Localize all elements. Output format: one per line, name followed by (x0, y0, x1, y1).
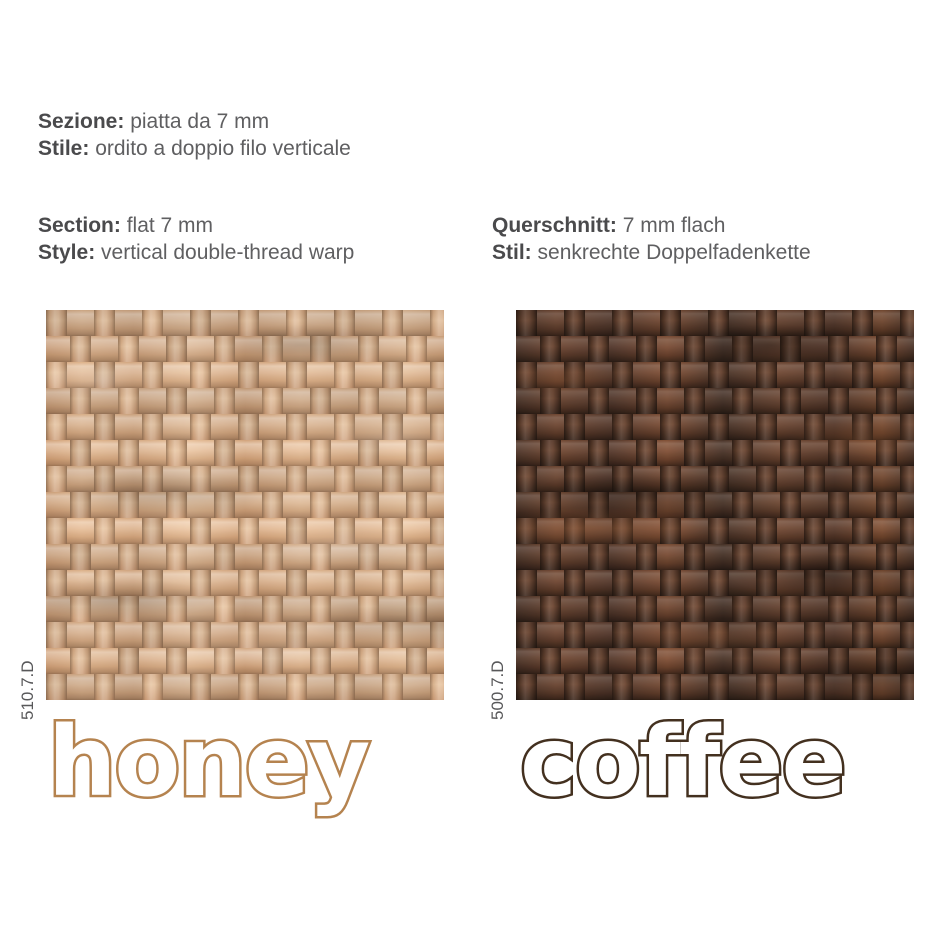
weave-vertical-warp (430, 310, 444, 336)
weave-vertical-warp (262, 648, 283, 674)
weave-vertical-warp (636, 440, 657, 466)
weave-vertical-warp (46, 310, 67, 336)
weave-vertical-warp (190, 466, 211, 492)
spec-key-style-en: Style: (38, 241, 95, 264)
spec-block-german: Querschnitt: 7 mm flach Stil: senkrechte… (492, 212, 811, 267)
weave-vertical-warp (708, 414, 729, 440)
weave-vertical-warp (876, 544, 897, 570)
weave-vertical-warp (828, 544, 849, 570)
weave-strand-row (46, 674, 444, 700)
weave-vertical-warp (828, 440, 849, 466)
spec-key-section-en: Section: (38, 214, 121, 237)
weave-vertical-warp (214, 596, 235, 622)
weave-vertical-warp (660, 310, 681, 336)
spec-line-section-en: Section: flat 7 mm (38, 212, 354, 239)
weave-vertical-warp (238, 310, 259, 336)
weave-vertical-warp (660, 570, 681, 596)
weave-vertical-warp (142, 362, 163, 388)
weave-vertical-warp (540, 388, 561, 414)
weave-vertical-warp (142, 622, 163, 648)
weave-vertical-warp (612, 362, 633, 388)
spec-line-style-it: Stile: ordito a doppio filo verticale (38, 135, 351, 162)
weave-vertical-warp (334, 622, 355, 648)
weave-vertical-warp (684, 648, 705, 674)
weave-horizontal-strand (46, 648, 444, 674)
weave-vertical-warp (756, 518, 777, 544)
weave-strand-row (46, 596, 444, 622)
weave-vertical-warp (70, 648, 91, 674)
weave-vertical-warp (190, 414, 211, 440)
weave-vertical-warp (684, 336, 705, 362)
weave-vertical-warp (828, 336, 849, 362)
weave-vertical-warp (70, 388, 91, 414)
weave-vertical-warp (660, 362, 681, 388)
weave-horizontal-strand (516, 648, 914, 674)
spec-block-italian: Sezione: piatta da 7 mm Stile: ordito a … (38, 108, 351, 163)
weave-vertical-warp (262, 492, 283, 518)
weave-vertical-warp (286, 466, 307, 492)
weave-strand-row (46, 388, 444, 414)
spec-line-style-en: Style: vertical double-thread warp (38, 239, 354, 266)
weave-vertical-warp (756, 310, 777, 336)
weave-vertical-warp (684, 544, 705, 570)
weave-vertical-warp (588, 336, 609, 362)
weave-vertical-warp (876, 492, 897, 518)
spec-value-section-en: flat 7 mm (127, 214, 213, 237)
weave-strand-row (516, 414, 914, 440)
weave-strand-row (516, 518, 914, 544)
weave-vertical-warp (142, 466, 163, 492)
weave-vertical-warp (516, 674, 537, 700)
weave-vertical-warp (588, 492, 609, 518)
weave-vertical-warp (612, 674, 633, 700)
weave-vertical-warp (612, 310, 633, 336)
weave-vertical-warp (118, 388, 139, 414)
weave-strand-row (516, 388, 914, 414)
weave-vertical-warp (900, 466, 914, 492)
weave-strand-row (46, 518, 444, 544)
spec-value-style-it: ordito a doppio filo verticale (95, 137, 351, 160)
weave-vertical-warp (334, 466, 355, 492)
weave-vertical-warp (166, 596, 187, 622)
weave-vertical-warp (516, 310, 537, 336)
weave-vertical-warp (516, 518, 537, 544)
weave-vertical-warp (382, 466, 403, 492)
weave-vertical-warp (334, 570, 355, 596)
weave-vertical-warp (94, 414, 115, 440)
weave-vertical-warp (804, 362, 825, 388)
weave-vertical-warp (46, 518, 67, 544)
weave-vertical-warp (238, 518, 259, 544)
weave-vertical-warp (46, 466, 67, 492)
weave-vertical-warp (732, 388, 753, 414)
weave-vertical-warp (430, 622, 444, 648)
weave-vertical-warp (190, 362, 211, 388)
weave-vertical-warp (780, 596, 801, 622)
weave-vertical-warp (190, 674, 211, 700)
weave-vertical-warp (214, 388, 235, 414)
weave-texture-coffee (516, 310, 914, 700)
weave-vertical-warp (780, 544, 801, 570)
weave-horizontal-strand (516, 440, 914, 466)
weave-vertical-warp (780, 336, 801, 362)
weave-horizontal-strand (516, 596, 914, 622)
weave-horizontal-strand (516, 336, 914, 362)
swatch-honey[interactable] (46, 310, 444, 700)
weave-vertical-warp (540, 596, 561, 622)
weave-vertical-warp (636, 336, 657, 362)
weave-vertical-warp (358, 544, 379, 570)
weave-texture-honey (46, 310, 444, 700)
weave-vertical-warp (406, 336, 427, 362)
weave-vertical-warp (310, 648, 331, 674)
weave-vertical-warp (70, 336, 91, 362)
weave-vertical-warp (142, 310, 163, 336)
weave-vertical-warp (516, 570, 537, 596)
weave-vertical-warp (334, 414, 355, 440)
weave-vertical-warp (756, 622, 777, 648)
weave-strand-row (516, 466, 914, 492)
weave-vertical-warp (828, 492, 849, 518)
weave-vertical-warp (358, 648, 379, 674)
weave-vertical-warp (780, 492, 801, 518)
weave-vertical-warp (732, 544, 753, 570)
weave-vertical-warp (660, 622, 681, 648)
weave-vertical-warp (564, 414, 585, 440)
weave-vertical-warp (142, 518, 163, 544)
weave-vertical-warp (732, 440, 753, 466)
weave-vertical-warp (118, 440, 139, 466)
weave-vertical-warp (756, 362, 777, 388)
spec-value-section-it: piatta da 7 mm (130, 110, 269, 133)
weave-vertical-warp (852, 674, 873, 700)
weave-vertical-warp (166, 388, 187, 414)
weave-vertical-warp (588, 440, 609, 466)
weave-vertical-warp (118, 544, 139, 570)
weave-vertical-warp (756, 414, 777, 440)
weave-vertical-warp (684, 492, 705, 518)
weave-vertical-warp (708, 518, 729, 544)
weave-vertical-warp (636, 596, 657, 622)
weave-vertical-warp (708, 570, 729, 596)
weave-vertical-warp (70, 596, 91, 622)
weave-vertical-warp (804, 518, 825, 544)
spec-value-style-de: senkrechte Doppelfadenkette (538, 241, 811, 264)
weave-vertical-warp (94, 466, 115, 492)
weave-vertical-warp (516, 466, 537, 492)
weave-vertical-warp (612, 570, 633, 596)
weave-vertical-warp (540, 440, 561, 466)
weave-vertical-warp (46, 414, 67, 440)
weave-vertical-warp (900, 310, 914, 336)
weave-vertical-warp (94, 310, 115, 336)
weave-vertical-warp (732, 492, 753, 518)
weave-vertical-warp (828, 388, 849, 414)
weave-vertical-warp (94, 570, 115, 596)
weave-vertical-warp (334, 310, 355, 336)
weave-vertical-warp (732, 336, 753, 362)
weave-horizontal-strand (516, 544, 914, 570)
weave-vertical-warp (876, 388, 897, 414)
weave-vertical-warp (852, 518, 873, 544)
weave-vertical-warp (852, 414, 873, 440)
swatch-code-honey: 510.7.D (18, 660, 38, 720)
weave-vertical-warp (564, 674, 585, 700)
weave-vertical-warp (118, 596, 139, 622)
weave-vertical-warp (190, 310, 211, 336)
weave-vertical-warp (286, 674, 307, 700)
weave-horizontal-strand (46, 440, 444, 466)
weave-vertical-warp (166, 544, 187, 570)
weave-vertical-warp (540, 336, 561, 362)
weave-vertical-warp (430, 518, 444, 544)
weave-vertical-warp (46, 674, 67, 700)
weave-strand-row (516, 622, 914, 648)
weave-vertical-warp (166, 440, 187, 466)
weave-vertical-warp (46, 570, 67, 596)
weave-vertical-warp (852, 466, 873, 492)
weave-vertical-warp (358, 440, 379, 466)
spec-line-style-de: Stil: senkrechte Doppelfadenkette (492, 239, 811, 266)
weave-vertical-warp (756, 674, 777, 700)
weave-strand-row (46, 622, 444, 648)
weave-vertical-warp (382, 570, 403, 596)
weave-vertical-warp (382, 674, 403, 700)
weave-vertical-warp (636, 544, 657, 570)
weave-vertical-warp (166, 492, 187, 518)
weave-vertical-warp (852, 310, 873, 336)
weave-vertical-warp (94, 674, 115, 700)
weave-vertical-warp (310, 440, 331, 466)
weave-vertical-warp (708, 622, 729, 648)
weave-vertical-warp (516, 622, 537, 648)
weave-vertical-warp (262, 388, 283, 414)
weave-vertical-warp (406, 648, 427, 674)
weave-strand-row (46, 336, 444, 362)
weave-vertical-warp (262, 336, 283, 362)
weave-vertical-warp (310, 388, 331, 414)
weave-vertical-warp (382, 518, 403, 544)
weave-vertical-warp (852, 622, 873, 648)
weave-vertical-warp (406, 440, 427, 466)
weave-horizontal-strand (46, 596, 444, 622)
weave-vertical-warp (430, 466, 444, 492)
weave-vertical-warp (430, 414, 444, 440)
weave-vertical-warp (900, 622, 914, 648)
weave-strand-row (46, 414, 444, 440)
weave-strand-row (46, 492, 444, 518)
weave-vertical-warp (852, 570, 873, 596)
weave-vertical-warp (636, 388, 657, 414)
weave-vertical-warp (310, 492, 331, 518)
weave-vertical-warp (238, 622, 259, 648)
weave-strand-row (46, 648, 444, 674)
weave-vertical-warp (214, 336, 235, 362)
weave-vertical-warp (900, 518, 914, 544)
weave-vertical-warp (286, 414, 307, 440)
weave-vertical-warp (406, 596, 427, 622)
weave-vertical-warp (732, 596, 753, 622)
weave-vertical-warp (636, 648, 657, 674)
weave-vertical-warp (286, 362, 307, 388)
weave-vertical-warp (382, 414, 403, 440)
weave-vertical-warp (876, 596, 897, 622)
weave-vertical-warp (214, 648, 235, 674)
weave-vertical-warp (756, 466, 777, 492)
weave-vertical-warp (214, 440, 235, 466)
weave-vertical-warp (358, 596, 379, 622)
weave-vertical-warp (286, 622, 307, 648)
weave-vertical-warp (406, 388, 427, 414)
swatch-coffee[interactable] (516, 310, 914, 700)
spec-value-style-en: vertical double-thread warp (101, 241, 354, 264)
weave-vertical-warp (876, 440, 897, 466)
weave-vertical-warp (684, 596, 705, 622)
weave-strand-row (516, 570, 914, 596)
color-name-coffee: coffee (520, 714, 845, 810)
weave-vertical-warp (214, 544, 235, 570)
weave-vertical-warp (382, 622, 403, 648)
weave-strand-row (46, 362, 444, 388)
weave-vertical-warp (94, 362, 115, 388)
weave-vertical-warp (358, 492, 379, 518)
weave-vertical-warp (852, 362, 873, 388)
weave-vertical-warp (382, 310, 403, 336)
weave-vertical-warp (166, 648, 187, 674)
weave-vertical-warp (540, 544, 561, 570)
weave-vertical-warp (142, 570, 163, 596)
weave-strand-row (516, 362, 914, 388)
weave-vertical-warp (286, 518, 307, 544)
weave-strand-row (46, 544, 444, 570)
weave-strand-row (46, 466, 444, 492)
weave-vertical-warp (94, 518, 115, 544)
weave-vertical-warp (142, 414, 163, 440)
weave-vertical-warp (286, 310, 307, 336)
weave-vertical-warp (684, 388, 705, 414)
weave-vertical-warp (612, 518, 633, 544)
weave-vertical-warp (46, 622, 67, 648)
weave-strand-row (46, 310, 444, 336)
weave-vertical-warp (900, 570, 914, 596)
weave-vertical-warp (310, 596, 331, 622)
weave-vertical-warp (804, 310, 825, 336)
weave-vertical-warp (780, 388, 801, 414)
weave-vertical-warp (190, 570, 211, 596)
weave-vertical-warp (588, 596, 609, 622)
weave-vertical-warp (636, 492, 657, 518)
weave-vertical-warp (660, 466, 681, 492)
weave-vertical-warp (564, 362, 585, 388)
spec-value-section-de: 7 mm flach (623, 214, 726, 237)
spec-key-section-it: Sezione: (38, 110, 124, 133)
weave-vertical-warp (142, 674, 163, 700)
weave-vertical-warp (684, 440, 705, 466)
weave-vertical-warp (70, 440, 91, 466)
weave-vertical-warp (262, 596, 283, 622)
weave-vertical-warp (190, 518, 211, 544)
weave-vertical-warp (900, 362, 914, 388)
weave-vertical-warp (804, 570, 825, 596)
weave-strand-row (516, 596, 914, 622)
weave-strand-row (516, 310, 914, 336)
weave-horizontal-strand (516, 492, 914, 518)
weave-horizontal-strand (46, 336, 444, 362)
weave-vertical-warp (732, 648, 753, 674)
weave-vertical-warp (262, 544, 283, 570)
weave-vertical-warp (406, 544, 427, 570)
weave-vertical-warp (708, 310, 729, 336)
weave-horizontal-strand (516, 388, 914, 414)
weave-vertical-warp (804, 674, 825, 700)
weave-vertical-warp (804, 414, 825, 440)
weave-horizontal-strand (46, 388, 444, 414)
weave-vertical-warp (238, 362, 259, 388)
weave-vertical-warp (612, 466, 633, 492)
weave-vertical-warp (334, 362, 355, 388)
weave-vertical-warp (238, 674, 259, 700)
weave-vertical-warp (358, 388, 379, 414)
weave-vertical-warp (876, 336, 897, 362)
weave-vertical-warp (406, 492, 427, 518)
weave-vertical-warp (564, 570, 585, 596)
weave-vertical-warp (588, 648, 609, 674)
weave-vertical-warp (612, 414, 633, 440)
weave-vertical-warp (708, 466, 729, 492)
weave-vertical-warp (214, 492, 235, 518)
weave-vertical-warp (540, 492, 561, 518)
weave-vertical-warp (70, 492, 91, 518)
weave-vertical-warp (564, 622, 585, 648)
weave-vertical-warp (660, 518, 681, 544)
weave-vertical-warp (516, 362, 537, 388)
weave-vertical-warp (660, 414, 681, 440)
weave-vertical-warp (382, 362, 403, 388)
swatch-code-coffee: 500.7.D (488, 660, 508, 720)
weave-vertical-warp (430, 570, 444, 596)
weave-vertical-warp (588, 388, 609, 414)
weave-vertical-warp (564, 518, 585, 544)
weave-vertical-warp (540, 648, 561, 674)
weave-vertical-warp (118, 492, 139, 518)
weave-vertical-warp (780, 440, 801, 466)
weave-vertical-warp (430, 362, 444, 388)
weave-vertical-warp (94, 622, 115, 648)
weave-strand-row (516, 440, 914, 466)
weave-vertical-warp (588, 544, 609, 570)
weave-horizontal-strand (46, 544, 444, 570)
weave-vertical-warp (238, 466, 259, 492)
weave-vertical-warp (238, 570, 259, 596)
weave-vertical-warp (780, 648, 801, 674)
weave-vertical-warp (310, 336, 331, 362)
spec-key-style-it: Stile: (38, 137, 89, 160)
weave-vertical-warp (190, 622, 211, 648)
weave-strand-row (46, 570, 444, 596)
weave-vertical-warp (358, 336, 379, 362)
weave-vertical-warp (804, 622, 825, 648)
weave-vertical-warp (286, 570, 307, 596)
weave-strand-row (516, 674, 914, 700)
weave-vertical-warp (238, 414, 259, 440)
weave-vertical-warp (612, 622, 633, 648)
weave-vertical-warp (118, 648, 139, 674)
weave-vertical-warp (262, 440, 283, 466)
weave-vertical-warp (334, 674, 355, 700)
spec-key-style-de: Stil: (492, 241, 532, 264)
weave-vertical-warp (564, 466, 585, 492)
weave-vertical-warp (334, 518, 355, 544)
